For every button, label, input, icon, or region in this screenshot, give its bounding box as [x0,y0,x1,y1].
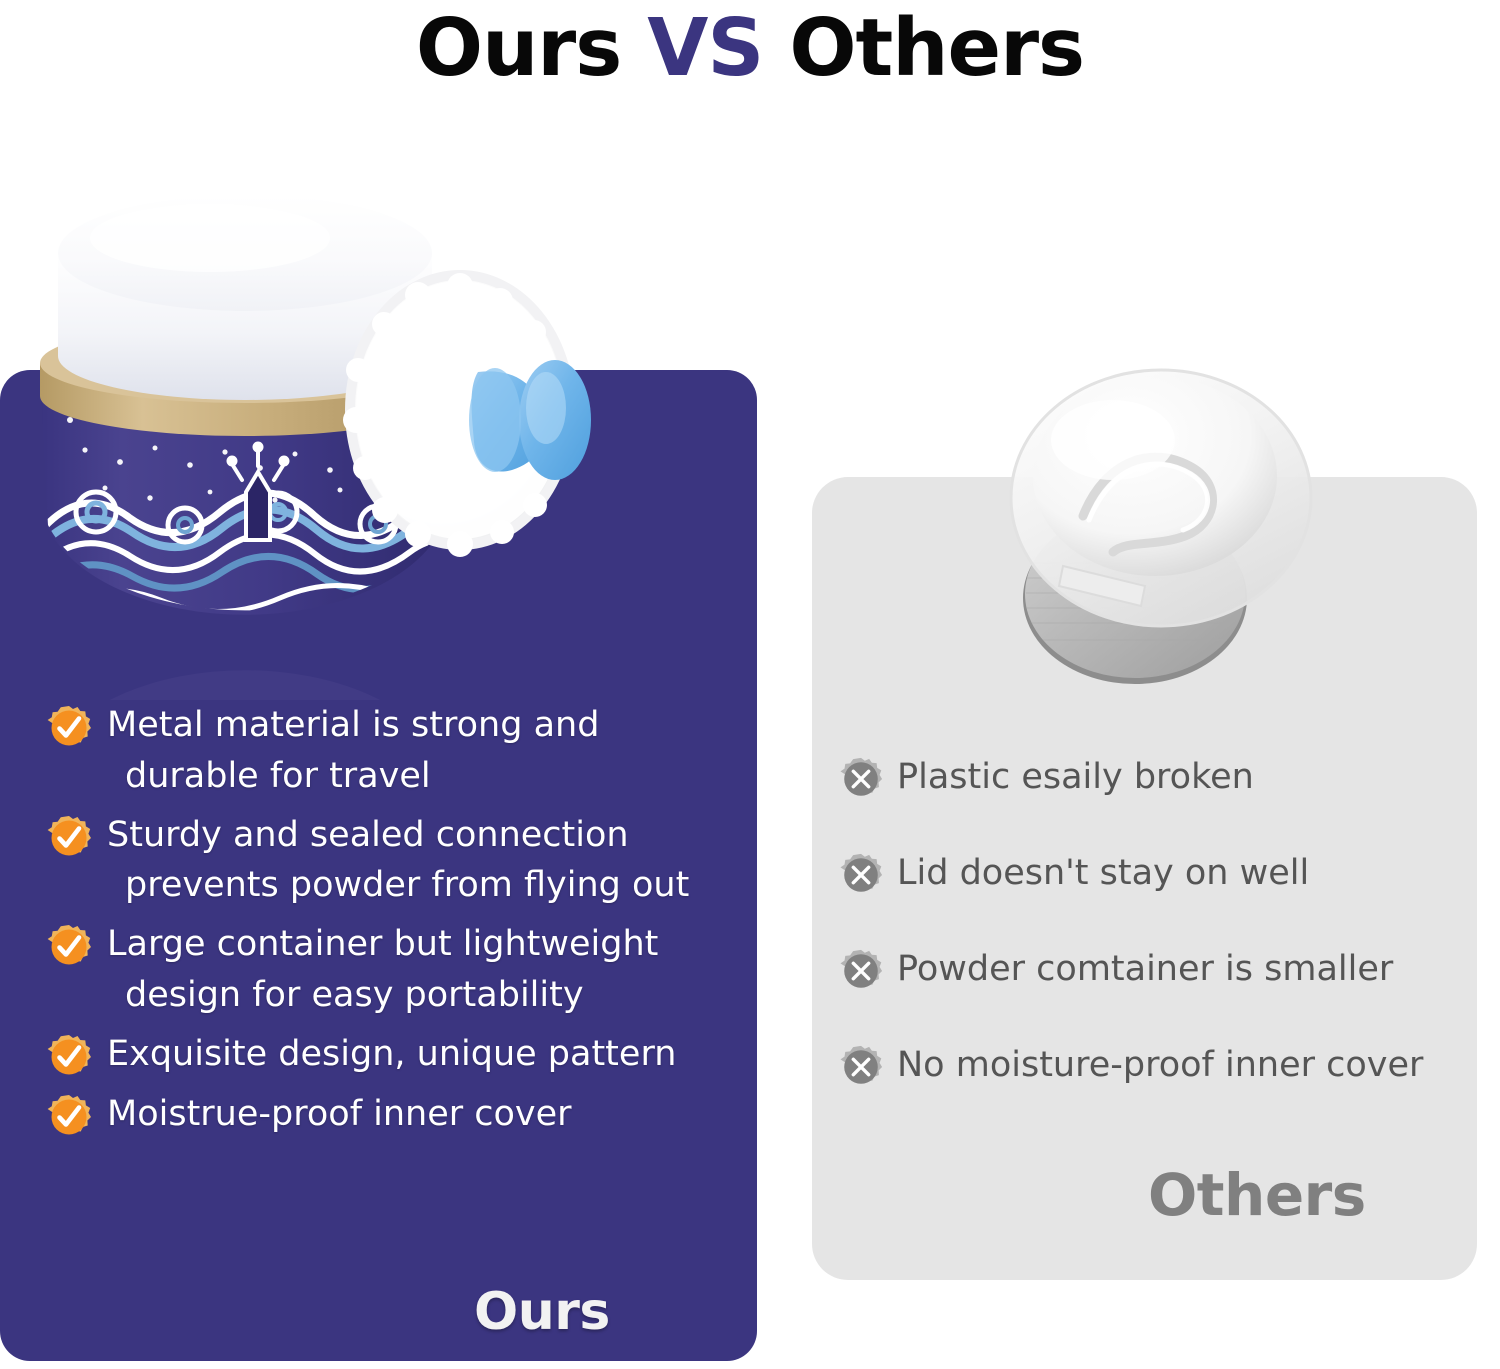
list-item-label: Plastic esaily broken [897,756,1254,798]
title-word-ours: Ours [416,9,621,88]
title-word-others: Others [789,9,1084,88]
page-title: Ours VS Others [0,0,1500,96]
others-feature-list: Plastic esaily broken Lid doesn't stay o… [838,752,1478,1136]
list-item: Powder comtainer is smaller [838,944,1478,994]
check-circle-icon [45,1033,93,1081]
check-circle-icon [45,704,93,752]
list-item: Large container but lightweight design f… [45,919,725,1021]
list-item-label: Lid doesn't stay on well [897,852,1309,894]
list-item: Metal material is strong and durable for… [45,700,725,802]
list-item: Lid doesn't stay on well [838,848,1478,898]
list-item-label: Metal material is strong and durable for… [107,700,599,802]
check-circle-icon [45,1093,93,1141]
ours-brand-label: Ours [474,1282,610,1342]
list-item: Plastic esaily broken [838,752,1478,802]
list-item-label: Exquisite design, unique pattern [107,1029,676,1080]
list-item-label: Large container but lightweight design f… [107,919,658,1021]
list-item-label: Moistrue-proof inner cover [107,1089,572,1140]
title-word-vs: VS [647,9,763,88]
cross-circle-icon [838,852,884,898]
list-item-label: Powder comtainer is smaller [897,948,1393,990]
list-item-label: No moisture-proof inner cover [897,1044,1423,1086]
ours-feature-list: Metal material is strong and durable for… [45,700,725,1149]
list-item-label: Sturdy and sealed connection prevents po… [107,810,689,912]
cross-circle-icon [838,756,884,802]
cross-circle-icon [838,1044,884,1090]
check-circle-icon [45,923,93,971]
list-item: Moistrue-proof inner cover [45,1089,725,1141]
list-item: Sturdy and sealed connection prevents po… [45,810,725,912]
others-brand-label: Others [1148,1161,1366,1229]
list-item: No moisture-proof inner cover [838,1040,1478,1090]
list-item: Exquisite design, unique pattern [45,1029,725,1081]
check-circle-icon [45,814,93,862]
cross-circle-icon [838,948,884,994]
